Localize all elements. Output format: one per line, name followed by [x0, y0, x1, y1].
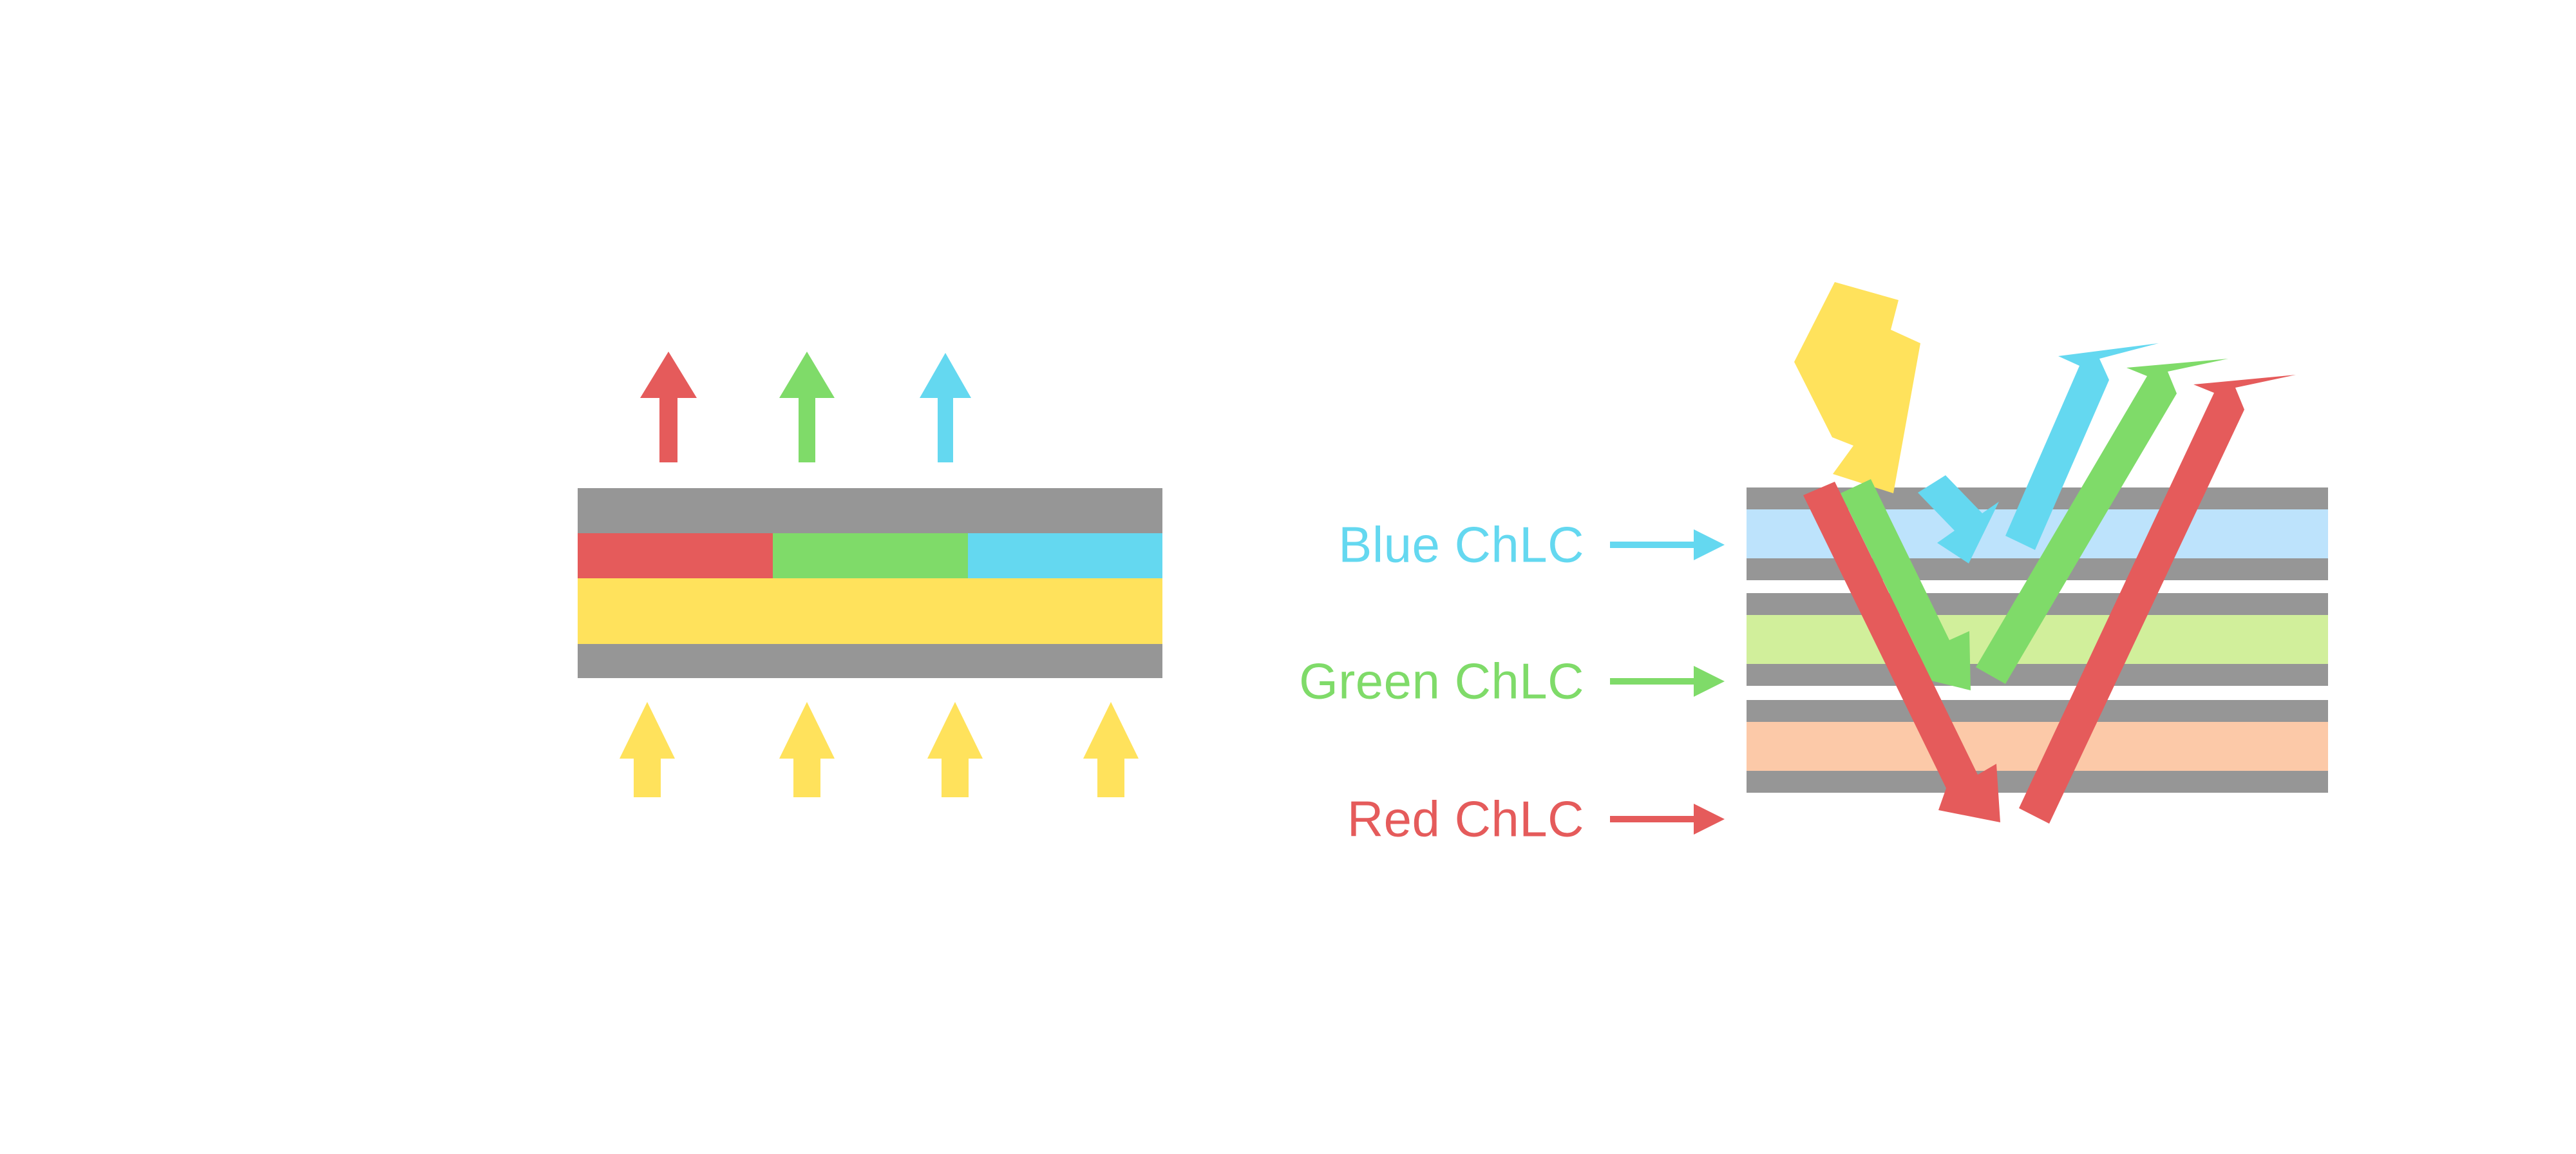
label-blue-chlc: Blue ChLC [1338, 516, 1584, 574]
left-top-electrode [578, 488, 1162, 533]
left-bottom-electrode [578, 644, 1162, 678]
backlight-ray-3 [927, 702, 983, 797]
label-arrows [1610, 529, 1725, 835]
red-emitted-ray [640, 352, 697, 462]
backlight-ray-1 [620, 702, 675, 797]
right-panel [1610, 282, 2328, 835]
blue-label-arrow-icon [1610, 529, 1725, 560]
label-green-chlc: Green ChLC [1299, 652, 1584, 711]
backlight-ray-2 [779, 702, 835, 797]
left-panel [578, 352, 1162, 797]
red-filter [578, 533, 773, 578]
red-top-electrode [1747, 700, 2328, 722]
red-label-arrow-icon [1610, 804, 1725, 835]
blue-filter [968, 533, 1162, 578]
left-backlight-layer [578, 578, 1162, 644]
green-label-arrow-icon [1610, 666, 1725, 697]
diagram-canvas: Blue ChLC Green ChLC Red ChLC [0, 0, 2576, 1154]
backlight-ray-4 [1083, 702, 1139, 797]
green-bottom-electrode [1747, 664, 2328, 686]
left-stack [578, 488, 1162, 678]
ambient-light-ray [1794, 282, 1920, 493]
backlight-input-rays [620, 702, 1139, 797]
green-filter [773, 533, 968, 578]
green-emitted-ray [779, 352, 835, 462]
diagram-svg [0, 0, 2576, 1154]
gap-2 [1747, 686, 2328, 700]
blue-emitted-ray [920, 353, 971, 462]
label-red-chlc: Red ChLC [1347, 790, 1584, 849]
red-chlc-layer [1747, 722, 2328, 771]
